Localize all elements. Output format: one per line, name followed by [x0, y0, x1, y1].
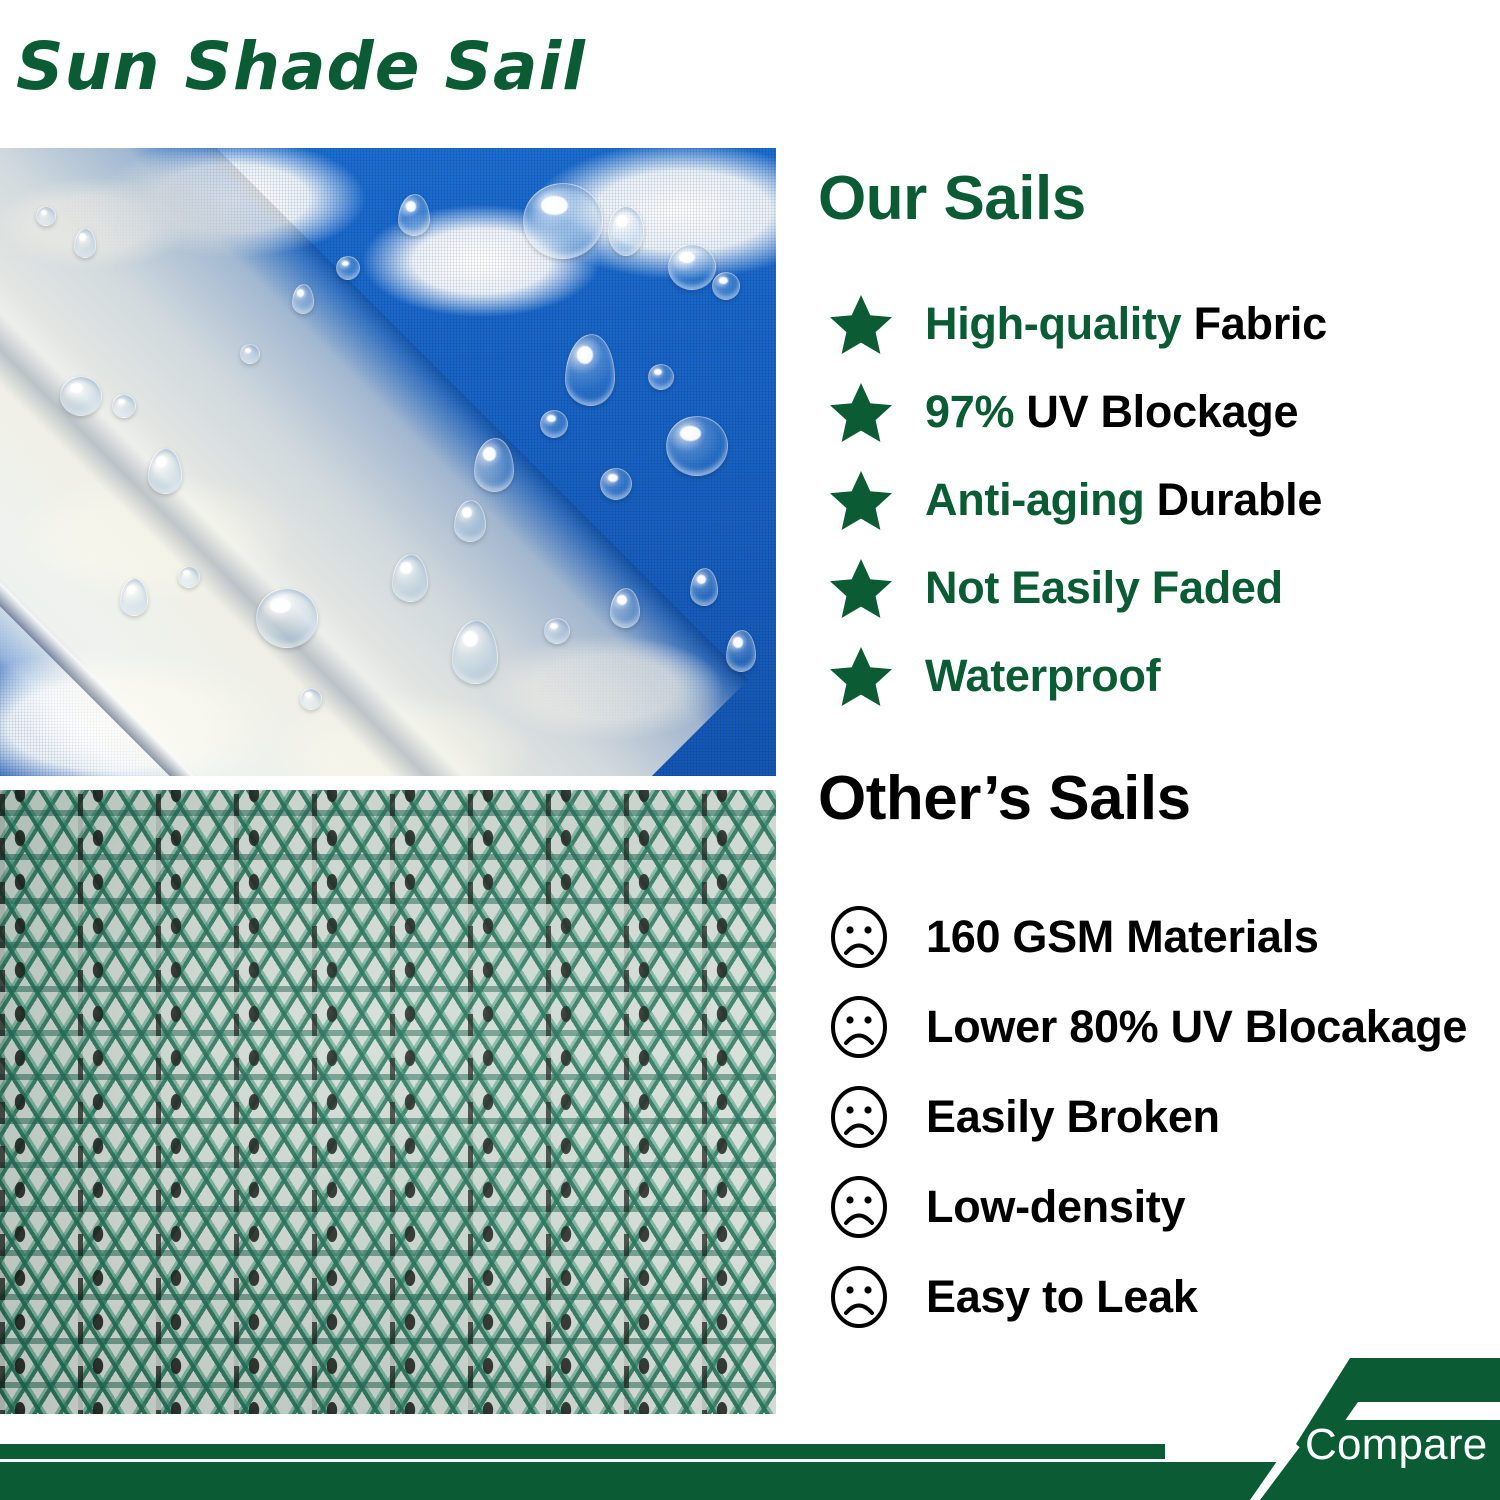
sad-face-icon — [818, 902, 892, 972]
list-item: Not Easily Faded — [818, 544, 1500, 632]
list-item-rest: Durable — [1144, 474, 1322, 525]
sad-face-icon — [818, 1172, 892, 1242]
water-droplet — [690, 568, 718, 606]
list-item-rest: UV Blockage — [1014, 386, 1298, 437]
water-droplet — [610, 588, 640, 628]
water-droplet — [600, 468, 632, 500]
water-droplet — [120, 578, 148, 616]
water-droplet — [544, 618, 570, 644]
sad-face-icon — [818, 992, 892, 1062]
star-icon — [818, 465, 892, 535]
water-droplet — [74, 228, 96, 258]
list-item-label: Lower 80% UV Blocakage — [892, 1002, 1467, 1052]
list-item-highlight: Anti-aging — [925, 474, 1144, 525]
list-item-rest: Fabric — [1181, 298, 1326, 349]
list-item-highlight: High-quality — [925, 298, 1181, 349]
water-droplet — [148, 448, 182, 494]
list-item: Waterproof — [818, 632, 1500, 720]
water-droplet — [36, 206, 56, 226]
list-item-label: Anti-aging Durable — [892, 475, 1322, 525]
star-icon — [818, 553, 892, 623]
infographic-page: Sun Shade Sail — [0, 0, 1500, 1500]
water-droplet — [398, 194, 430, 236]
list-item: Low-density — [818, 1162, 1500, 1252]
water-droplet — [292, 284, 314, 314]
list-item-label: Easy to Leak — [892, 1272, 1198, 1322]
water-droplet — [726, 630, 756, 672]
star-icon — [818, 377, 892, 447]
star-icon — [818, 641, 892, 711]
compare-label: Compare — [1305, 1418, 1500, 1472]
list-item-highlight: Waterproof — [925, 650, 1160, 701]
water-droplet — [178, 566, 200, 588]
water-droplet — [540, 410, 568, 438]
list-item-label: Not Easily Faded — [892, 563, 1283, 613]
other-sails-feature-list: 160 GSM Materials Lower 80% UV Blocakage — [818, 892, 1500, 1342]
list-item: Easy to Leak — [818, 1252, 1500, 1342]
list-item-label: Waterproof — [892, 651, 1160, 701]
list-item: Easily Broken — [818, 1072, 1500, 1162]
our-sails-feature-list: High-quality Fabric 97% UV Blockage Anti… — [818, 280, 1500, 720]
water-droplet — [112, 394, 136, 418]
water-droplet — [648, 364, 674, 390]
water-droplet — [474, 438, 514, 492]
water-droplet — [300, 688, 322, 710]
water-droplet — [608, 206, 644, 256]
list-item: 97% UV Blockage — [818, 368, 1500, 456]
water-droplet — [60, 376, 102, 416]
water-droplet — [666, 416, 728, 476]
list-item-highlight: Not Easily Faded — [925, 562, 1283, 613]
list-item-label: 97% UV Blockage — [892, 387, 1298, 437]
sad-face-icon — [818, 1262, 892, 1332]
comparison-column: Our Sails High-quality Fabric 97% UV Blo… — [818, 148, 1500, 1348]
water-droplet — [240, 344, 260, 364]
water-droplet — [392, 554, 428, 602]
our-sails-heading: Our Sails — [818, 168, 1086, 230]
list-item: Anti-aging Durable — [818, 456, 1500, 544]
bottom-accent-stripe — [0, 1444, 1165, 1459]
water-droplet — [454, 500, 486, 542]
mesh-shading-overlay — [0, 790, 776, 1414]
product-photo-our-fabric — [0, 148, 776, 776]
list-item-label: High-quality Fabric — [892, 299, 1327, 349]
list-item-label: Easily Broken — [892, 1092, 1220, 1142]
water-droplet — [668, 244, 716, 290]
list-item: High-quality Fabric — [818, 280, 1500, 368]
list-item: Lower 80% UV Blocakage — [818, 982, 1500, 1072]
list-item-label: 160 GSM Materials — [892, 912, 1319, 962]
list-item: 160 GSM Materials — [818, 892, 1500, 982]
water-droplet — [523, 183, 603, 259]
star-icon — [818, 289, 892, 359]
water-droplet — [256, 588, 318, 648]
page-title: Sun Shade Sail — [16, 24, 776, 110]
sad-face-icon — [818, 1082, 892, 1152]
list-item-label: Low-density — [892, 1182, 1185, 1232]
water-droplet — [336, 256, 360, 280]
product-photo-other-mesh — [0, 790, 776, 1414]
list-item-highlight: 97% — [925, 386, 1014, 437]
other-sails-heading: Other’s Sails — [818, 768, 1191, 830]
water-droplet — [712, 272, 740, 300]
